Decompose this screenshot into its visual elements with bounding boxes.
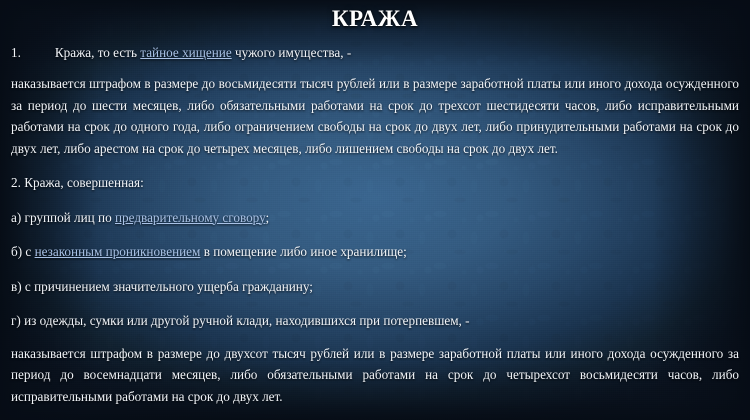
link-nezakonnym-proniknoveniem[interactable]: незаконным проникновением	[35, 244, 201, 259]
link-tajnoe-hishchenie[interactable]: тайное хищение	[140, 45, 231, 60]
sub-item-b-text-after-link: в помещение либо иное хранилище;	[200, 244, 406, 259]
item-1-text-before-link: Кража, то есть	[55, 45, 140, 60]
sub-item-a: а) группой лиц по предварительному сгово…	[11, 207, 739, 229]
item-1-text-after-link: чужого имущества, -	[232, 45, 352, 60]
slide-content: КРАЖА 1.Кража, то есть тайное хищение чу…	[0, 0, 750, 420]
sub-item-g: г) из одежды, сумки или другой ручной кл…	[11, 310, 739, 332]
sub-item-b-text-before-link: с	[22, 244, 34, 259]
slide-title: КРАЖА	[11, 0, 739, 33]
list-item-1: 1.Кража, то есть тайное хищение чужого и…	[11, 42, 739, 64]
sub-item-g-marker: г)	[11, 313, 21, 328]
penalty-paragraph-1: наказывается штрафом в размере до восьми…	[11, 73, 739, 159]
sub-item-a-text-after-link: ;	[266, 210, 270, 225]
sub-item-a-marker: а)	[11, 210, 21, 225]
sub-item-v: в) с причинением значительного ущерба гр…	[11, 276, 739, 298]
link-predvaritelnomu-sgovoru[interactable]: предварительному сговору	[115, 210, 266, 225]
presentation-slide: КРАЖА 1.Кража, то есть тайное хищение чу…	[0, 0, 750, 420]
sub-item-a-text-before-link: группой лиц по	[21, 210, 115, 225]
sub-item-b: б) с незаконным проникновением в помещен…	[11, 241, 739, 263]
list-item-2-heading: 2. Кража, совершенная:	[11, 172, 739, 194]
sub-item-b-marker: б)	[11, 244, 22, 259]
sub-item-g-text: из одежды, сумки или другой ручной клади…	[21, 313, 470, 328]
sub-item-v-text: с причинением значительного ущерба гражд…	[22, 279, 313, 294]
sub-item-v-marker: в)	[11, 279, 22, 294]
penalty-paragraph-2: наказывается штрафом в размере до двухсо…	[11, 343, 739, 408]
item-1-marker: 1.	[11, 45, 21, 60]
